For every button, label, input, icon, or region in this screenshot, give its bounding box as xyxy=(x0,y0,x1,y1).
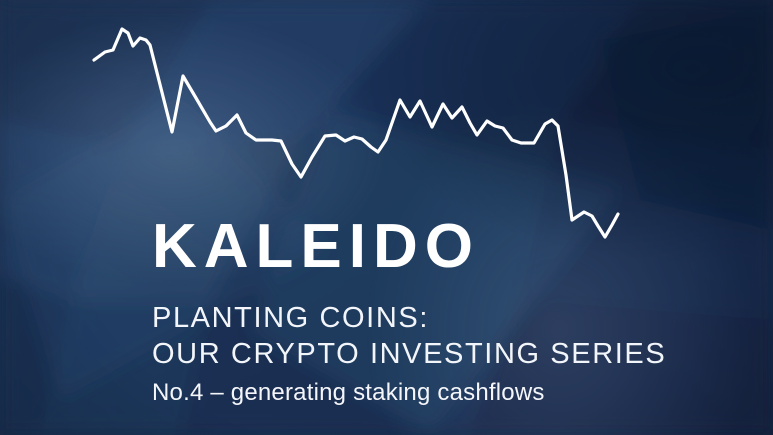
tagline-line-2: OUR CRYPTO INVESTING SERIES xyxy=(152,336,752,372)
brand-wordmark: KALEIDO xyxy=(152,216,752,278)
poster-canvas: KALEIDO PLANTING COINS: OUR CRYPTO INVES… xyxy=(0,0,773,435)
headline-block: KALEIDO PLANTING COINS: OUR CRYPTO INVES… xyxy=(152,216,752,408)
chart-line-series xyxy=(94,29,618,237)
tagline-line-1: PLANTING COINS: xyxy=(152,300,752,336)
episode-subtitle: No.4 – generating staking cashflows xyxy=(152,378,752,408)
